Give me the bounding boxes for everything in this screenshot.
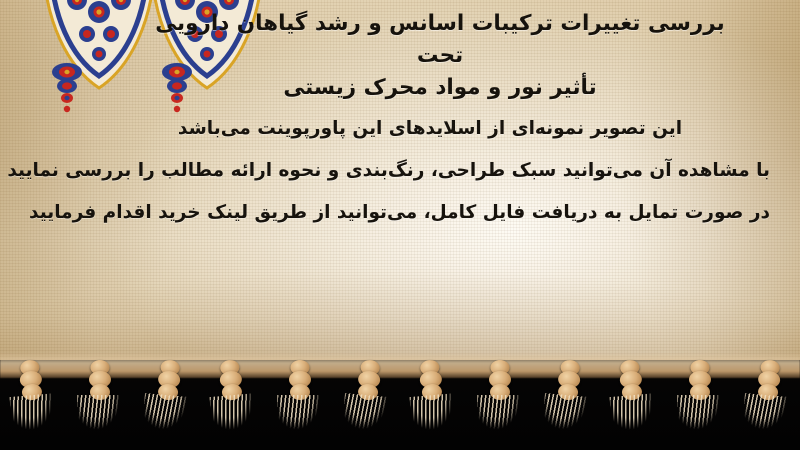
fringe-tassel [198, 355, 268, 450]
slide-title-line-2: تأثیر نور و مواد محرک زیستی [140, 72, 740, 104]
slide-body-line-2: با مشاهده آن می‌توانید سبک طراحی، رنگ‌بن… [90, 150, 770, 192]
tassel-skirt [477, 395, 523, 445]
tassel-skirt [410, 393, 460, 447]
fringe-tassel [69, 358, 131, 450]
tassel-skirt [77, 395, 123, 445]
fringe-tassel [332, 355, 402, 450]
fringe-tassel [732, 355, 800, 450]
fringe-tassel [469, 358, 531, 450]
tassel-skirt [140, 393, 190, 447]
fringe-tassel [669, 358, 731, 450]
fringe-tassel [0, 355, 68, 450]
tassel-skirt [540, 393, 590, 447]
tassel-skirt [740, 393, 790, 447]
fringe-tassel [598, 355, 668, 450]
slide-title: بررسی تغییرات ترکیبات اسانس و رشد گیاهان… [140, 8, 740, 104]
fringe-tassel [269, 358, 331, 450]
ornament-pendant-left [47, 62, 87, 118]
presentation-slide: بررسی تغییرات ترکیبات اسانس و رشد گیاهان… [0, 0, 800, 450]
slide-body-line-1: این تصویر نمونه‌ای از اسلایدهای این پاور… [90, 108, 770, 150]
tassel-skirt [340, 393, 390, 447]
tassel-skirt [10, 393, 60, 447]
fringe-tassel [532, 355, 602, 450]
slide-body: این تصویر نمونه‌ای از اسلایدهای این پاور… [90, 108, 770, 234]
slide-body-line-3: در صورت تمایل به دریافت فایل کامل، می‌تو… [90, 192, 770, 234]
tassel-skirt [277, 395, 323, 445]
carpet-tassel-fringe [0, 358, 800, 450]
slide-title-line-1: بررسی تغییرات ترکیبات اسانس و رشد گیاهان… [140, 8, 740, 72]
tassel-skirt [610, 393, 660, 447]
tassel-skirt [677, 395, 723, 445]
fringe-tassel [398, 355, 468, 450]
tassel-skirt [210, 393, 260, 447]
fringe-tassel [132, 355, 202, 450]
